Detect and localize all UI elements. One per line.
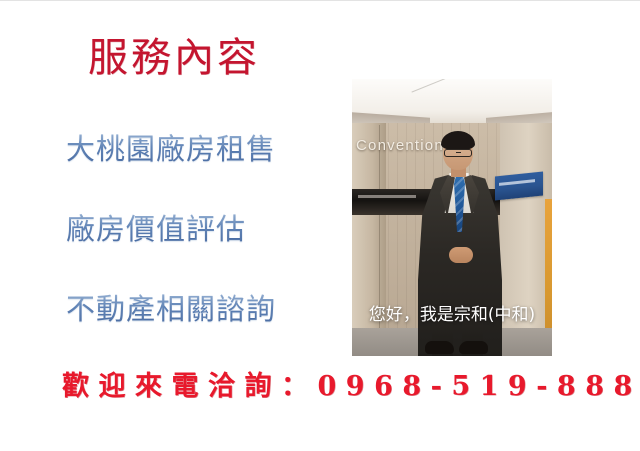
photo-caption: 您好，我是宗和(中和) xyxy=(352,304,552,326)
service-item-1: 大桃園廠房租售 xyxy=(66,132,276,166)
person-shoe-left xyxy=(425,341,454,354)
contact-phone-line: 歡迎來電洽詢：0968-519-888 xyxy=(62,371,640,403)
photo-band-highlight xyxy=(358,195,416,198)
page-title: 服務內容 xyxy=(88,35,260,81)
person-glasses-bridge xyxy=(456,152,461,153)
service-item-3: 不動產相關諮詢 xyxy=(66,292,276,326)
photo-blue-plaque xyxy=(495,171,543,200)
service-item-2: 廠房價值評估 xyxy=(66,212,246,246)
slide-canvas: 服務內容 大桃園廠房租售 廠房價值評估 不動產相關諮詢 歡迎來電洽詢：0968-… xyxy=(0,0,640,451)
person-clasped-hands xyxy=(449,247,473,263)
portrait-photo: Convention Ce 您好，我是宗和(中和) xyxy=(352,79,552,356)
person-hair xyxy=(441,131,475,150)
person-shoe-right xyxy=(459,341,488,354)
